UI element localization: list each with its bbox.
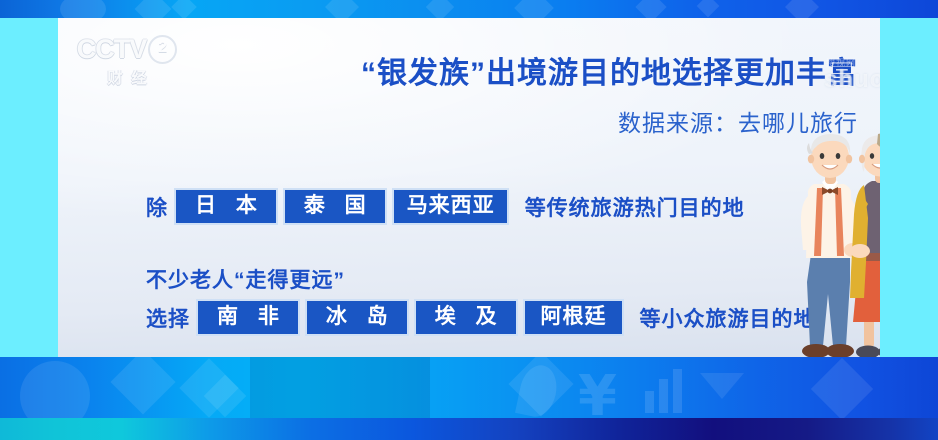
bottom-decorative-band: ¥ (0, 357, 938, 440)
destination-chip-malaysia: 马来西亚 (394, 190, 507, 223)
destination-chip-thailand: 泰 国 (285, 190, 385, 223)
bar-chart-decoration (645, 369, 682, 413)
destination-chip-japan: 日 本 (176, 190, 276, 223)
broadcast-graphic-screen: CCTV 2 财经 “银发族”出境游目的地选择更加丰富 数据来源：去哪儿旅行 搜… (0, 0, 938, 440)
left-accent-strip (0, 18, 58, 357)
channel-name-label: 财经 (65, 67, 189, 88)
yen-symbol-decoration: ¥ (578, 369, 617, 425)
top-decorative-band (0, 0, 938, 18)
channel-number-badge: 2 (148, 35, 177, 64)
statement-line-2: 不少老人“走得更远” (146, 264, 345, 294)
destination-chip-argentina: 阿根廷 (525, 301, 622, 334)
page-title: “银发族”出境游目的地选择更加丰富 (248, 48, 858, 92)
bottom-color-strip (0, 418, 938, 440)
elderly-couple-illustration (778, 122, 880, 357)
line1-lead-text: 除 (146, 192, 168, 222)
cctv2-channel-logo: CCTV 2 财经 (65, 34, 189, 88)
destination-chip-egypt: 埃 及 (416, 301, 516, 334)
destination-chip-iceland: 冰 岛 (307, 301, 407, 334)
destination-chip-south-africa: 南 非 (198, 301, 298, 334)
line2-text: 不少老人“走得更远” (146, 264, 345, 294)
right-accent-strip (880, 18, 938, 357)
cctv-wordmark: CCTV (77, 34, 147, 65)
line1-tail-text: 等传统旅游热门目的地 (525, 192, 745, 222)
content-panel: CCTV 2 财经 “银发族”出境游目的地选择更加丰富 数据来源：去哪儿旅行 搜… (58, 18, 880, 357)
statement-line-1: 除 日 本 泰 国 马来西亚 等传统旅游热门目的地 (146, 190, 745, 223)
line3-lead-text: 选择 (146, 303, 190, 333)
data-source-label: 数据来源：去哪儿旅行 (248, 104, 858, 138)
statement-line-3: 选择 南 非 冰 岛 埃 及 阿根廷 等小众旅游目的地 (146, 301, 816, 334)
